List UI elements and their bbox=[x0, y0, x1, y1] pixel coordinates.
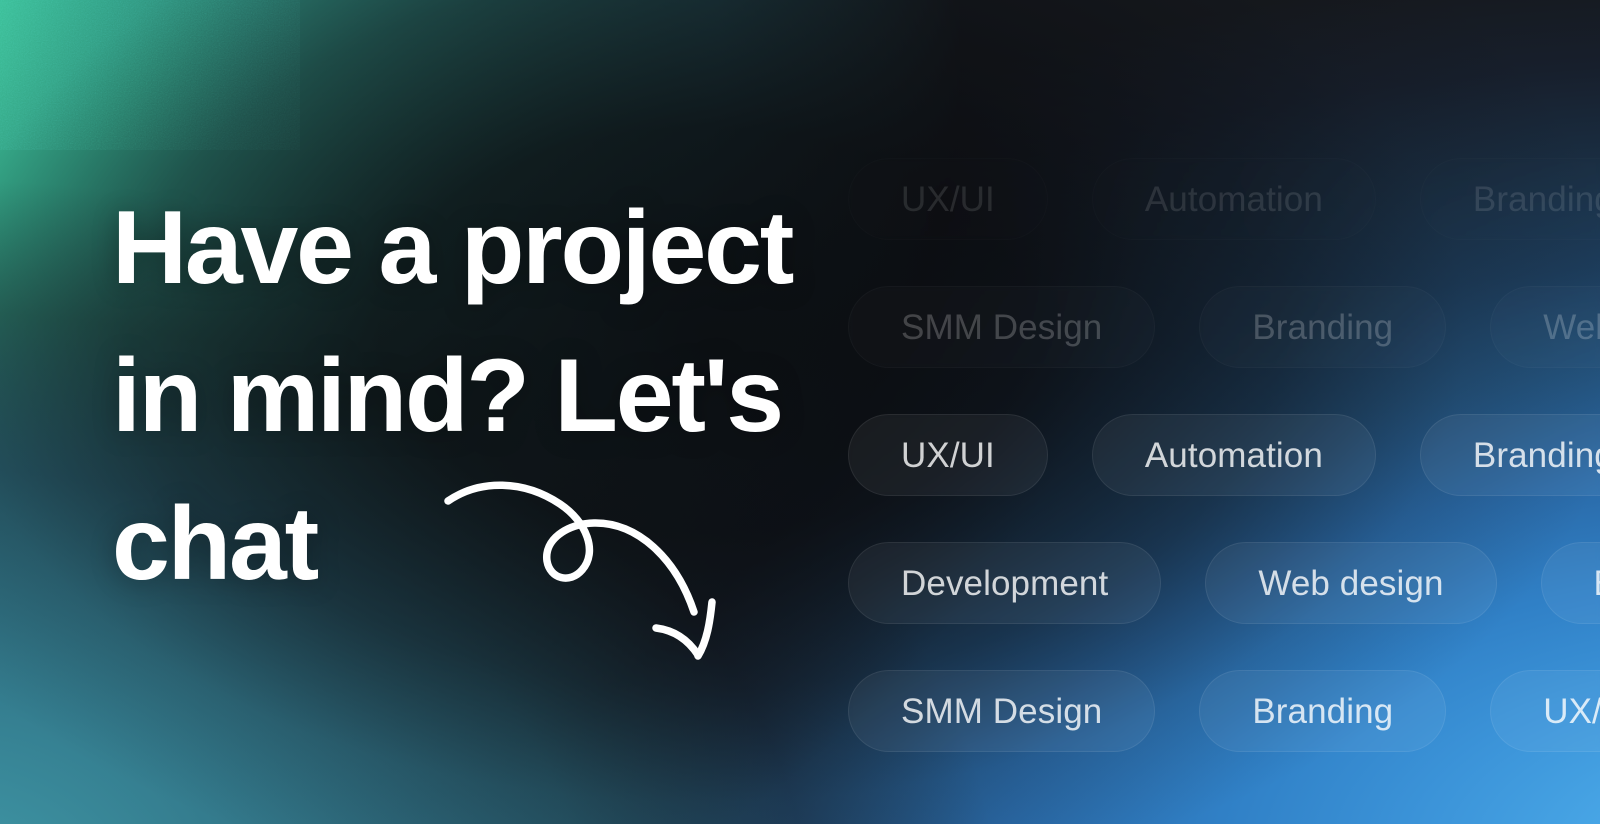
service-tag[interactable]: Branding bbox=[1199, 286, 1446, 368]
service-tag[interactable]: Automation bbox=[1092, 158, 1376, 240]
service-tag[interactable]: Automation bbox=[1092, 414, 1376, 496]
service-tag[interactable]: Branding bbox=[1420, 414, 1600, 496]
service-tag[interactable]: Branding bbox=[1420, 158, 1600, 240]
service-tag[interactable]: Branding bbox=[1199, 670, 1446, 752]
service-tag[interactable]: Web design bbox=[1490, 286, 1600, 368]
service-tag[interactable]: UX/UI bbox=[1490, 670, 1600, 752]
service-tag[interactable]: SMM Design bbox=[848, 670, 1155, 752]
service-tag[interactable]: Web design bbox=[1205, 542, 1496, 624]
service-tag-row: SMM DesignBrandingUX/UI bbox=[848, 670, 1600, 752]
service-tag[interactable]: Branding bbox=[1541, 542, 1600, 624]
hero-banner: UX/UIAutomationBrandingSMM DesignBrandin… bbox=[0, 0, 1600, 824]
curly-arrow-icon bbox=[432, 466, 742, 666]
noise-grain-overlay bbox=[0, 0, 300, 150]
